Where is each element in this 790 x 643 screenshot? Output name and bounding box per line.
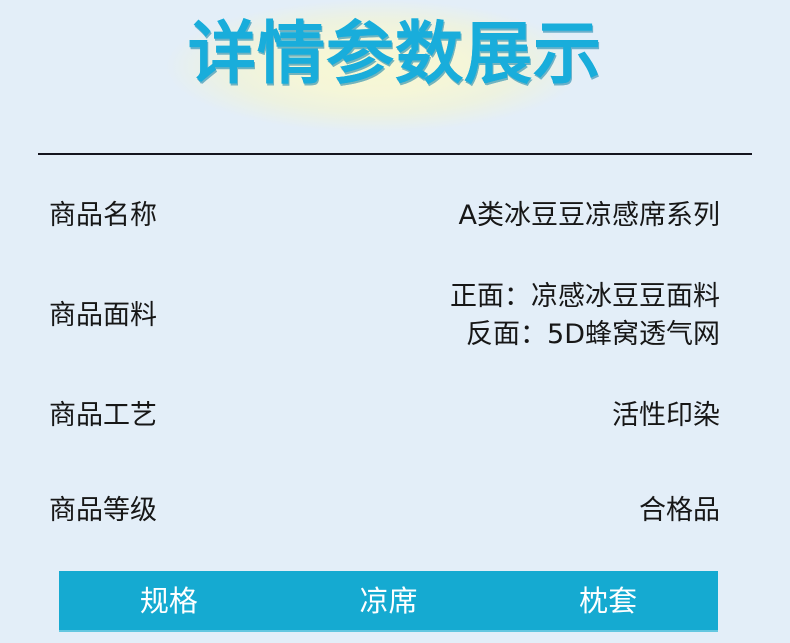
header-divider: [38, 153, 752, 155]
spec-row-fabric: 商品面料 正面：凉感冰豆豆面料 反面：5D蜂窝透气网: [0, 263, 790, 368]
spec-label: 商品名称: [49, 199, 157, 233]
size-table-header-bar: 规格 凉席 枕套: [59, 571, 718, 630]
spec-value-line: A类冰豆豆凉感席系列: [459, 197, 720, 235]
product-spec-page: 详情参数展示 商品名称 A类冰豆豆凉感席系列 商品面料 正面：凉感冰豆豆面料 反…: [0, 0, 790, 643]
size-table-header-spec: 规格: [59, 582, 279, 620]
spec-value: 活性印染: [612, 397, 720, 435]
size-table-header-mat: 凉席: [279, 582, 499, 620]
spec-value: A类冰豆豆凉感席系列: [459, 197, 720, 235]
spec-value-line: 活性印染: [612, 397, 720, 435]
spec-value: 合格品: [639, 492, 720, 530]
spec-label: 商品等级: [49, 494, 157, 528]
spec-row-craft: 商品工艺 活性印染: [0, 368, 790, 463]
spec-label: 商品面料: [49, 299, 157, 333]
spec-value: 正面：凉感冰豆豆面料 反面：5D蜂窝透气网: [450, 278, 720, 354]
spec-value-line-front: 正面：凉感冰豆豆面料: [450, 278, 720, 316]
spec-row-grade: 商品等级 合格品: [0, 463, 790, 558]
size-table-header-pillowcase: 枕套: [498, 582, 718, 620]
spec-value-line: 合格品: [639, 492, 720, 530]
spec-table: 商品名称 A类冰豆豆凉感席系列 商品面料 正面：凉感冰豆豆面料 反面：5D蜂窝透…: [0, 168, 790, 558]
spec-label: 商品工艺: [49, 399, 157, 433]
page-header: 详情参数展示: [0, 0, 790, 128]
spec-value-line-back: 反面：5D蜂窝透气网: [450, 316, 720, 354]
page-title: 详情参数展示: [0, 13, 790, 97]
spec-row-product-name: 商品名称 A类冰豆豆凉感席系列: [0, 168, 790, 263]
